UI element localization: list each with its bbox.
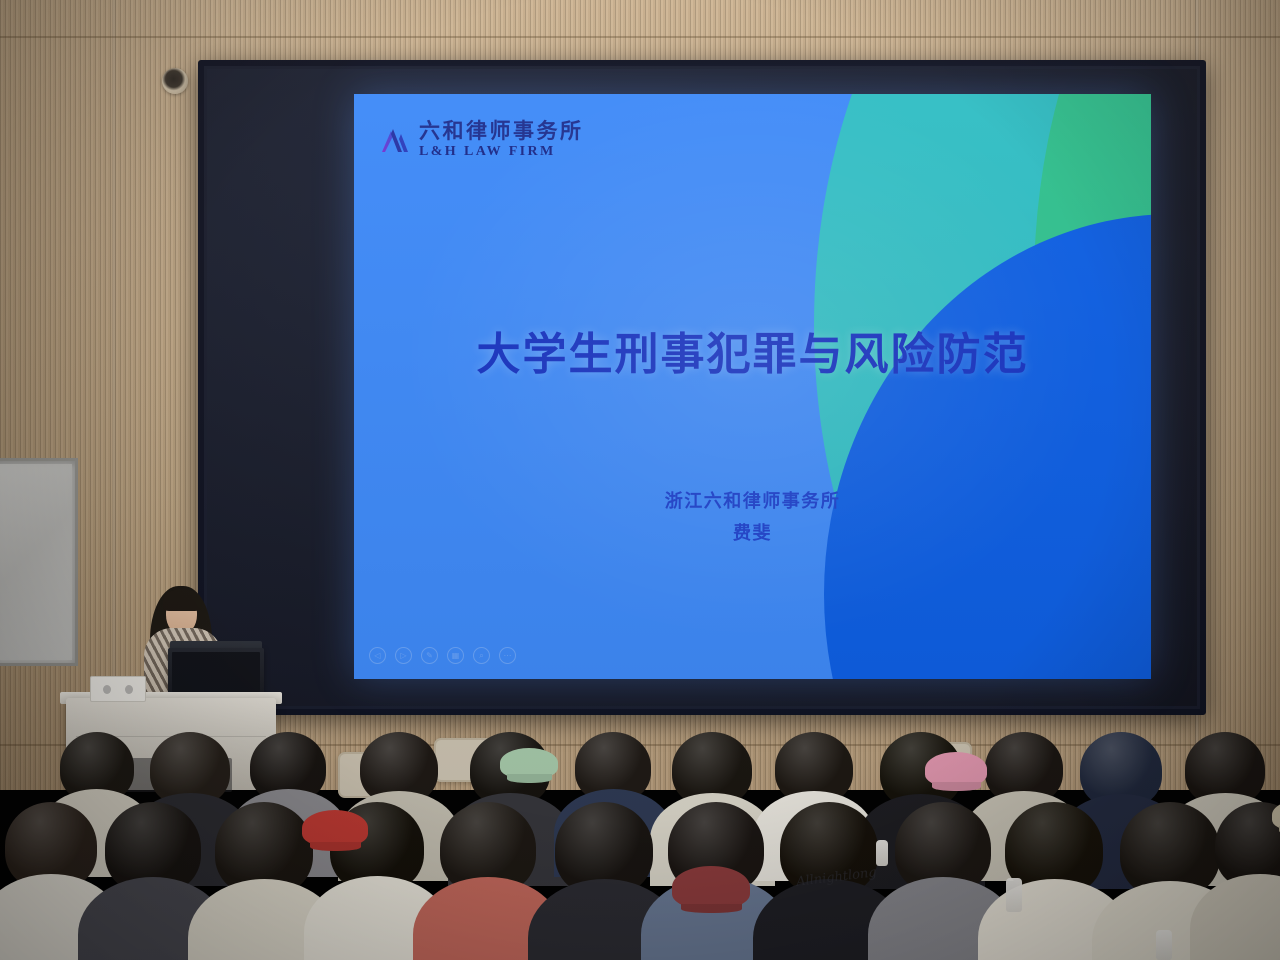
water-bottle [876,840,888,866]
student [440,802,536,894]
cap-red [302,810,368,846]
decorative-quadrant-clip [784,94,1151,679]
lh-law-firm-mark-icon [380,125,410,155]
ceiling-speaker-icon [162,68,188,94]
logo-chinese-name: 六和律师事务所 [419,121,584,142]
slide-title: 大学生刑事犯罪与风险防范 [354,318,1151,382]
student [1080,732,1162,808]
cap-mint [500,748,558,778]
student [5,802,97,890]
decorative-quadrant-blue [824,214,1151,679]
pen-tool-icon[interactable]: ✎ [421,647,438,664]
presentation-slide[interactable]: 六和律师事务所 L&H LAW FIRM 大学生刑事犯罪与风险防范 浙江六和律师… [354,94,1151,679]
student [215,802,313,896]
student [105,802,201,894]
law-firm-logo: 六和律师事务所 L&H LAW FIRM [380,121,584,159]
student [555,802,653,896]
next-slide-icon[interactable]: ▷ [395,647,412,664]
all-slides-icon[interactable]: ▦ [447,647,464,664]
cap-pink [925,752,987,786]
student [1215,802,1280,890]
ppt-control-bar[interactable]: ◁▷✎▦⌕⋯ [369,647,516,664]
logo-text-block: 六和律师事务所 L&H LAW FIRM [419,121,584,159]
water-bottle [1156,930,1172,960]
lecture-hall-scene: 六和律师事务所 L&H LAW FIRM 大学生刑事犯罪与风险防范 浙江六和律师… [0,0,1280,960]
student [672,732,752,806]
podium-sign [90,676,146,702]
podium-monitor-screen [172,652,260,692]
student [985,732,1063,804]
water-bottle [1006,878,1022,912]
wall-whiteboard [0,458,78,666]
student [60,732,134,802]
cap-maroon [672,866,750,908]
slide-subtitle: 浙江六和律师事务所 [354,487,1151,513]
student [575,732,651,802]
student [250,732,326,802]
student [1185,732,1265,806]
student [1120,802,1220,898]
student [360,732,438,804]
projection-board: 六和律师事务所 L&H LAW FIRM 大学生刑事犯罪与风险防范 浙江六和律师… [198,60,1206,715]
zoom-icon[interactable]: ⌕ [473,647,490,664]
more-options-icon[interactable]: ⋯ [499,647,516,664]
student [150,732,230,806]
student [775,732,853,804]
speaker-fringe [163,589,201,611]
student [895,802,991,894]
audience: Allnightlong [0,724,1280,960]
logo-english-name: L&H LAW FIRM [419,145,584,159]
slide-presenter-name: 费斐 [354,519,1151,545]
previous-slide-icon[interactable]: ◁ [369,647,386,664]
